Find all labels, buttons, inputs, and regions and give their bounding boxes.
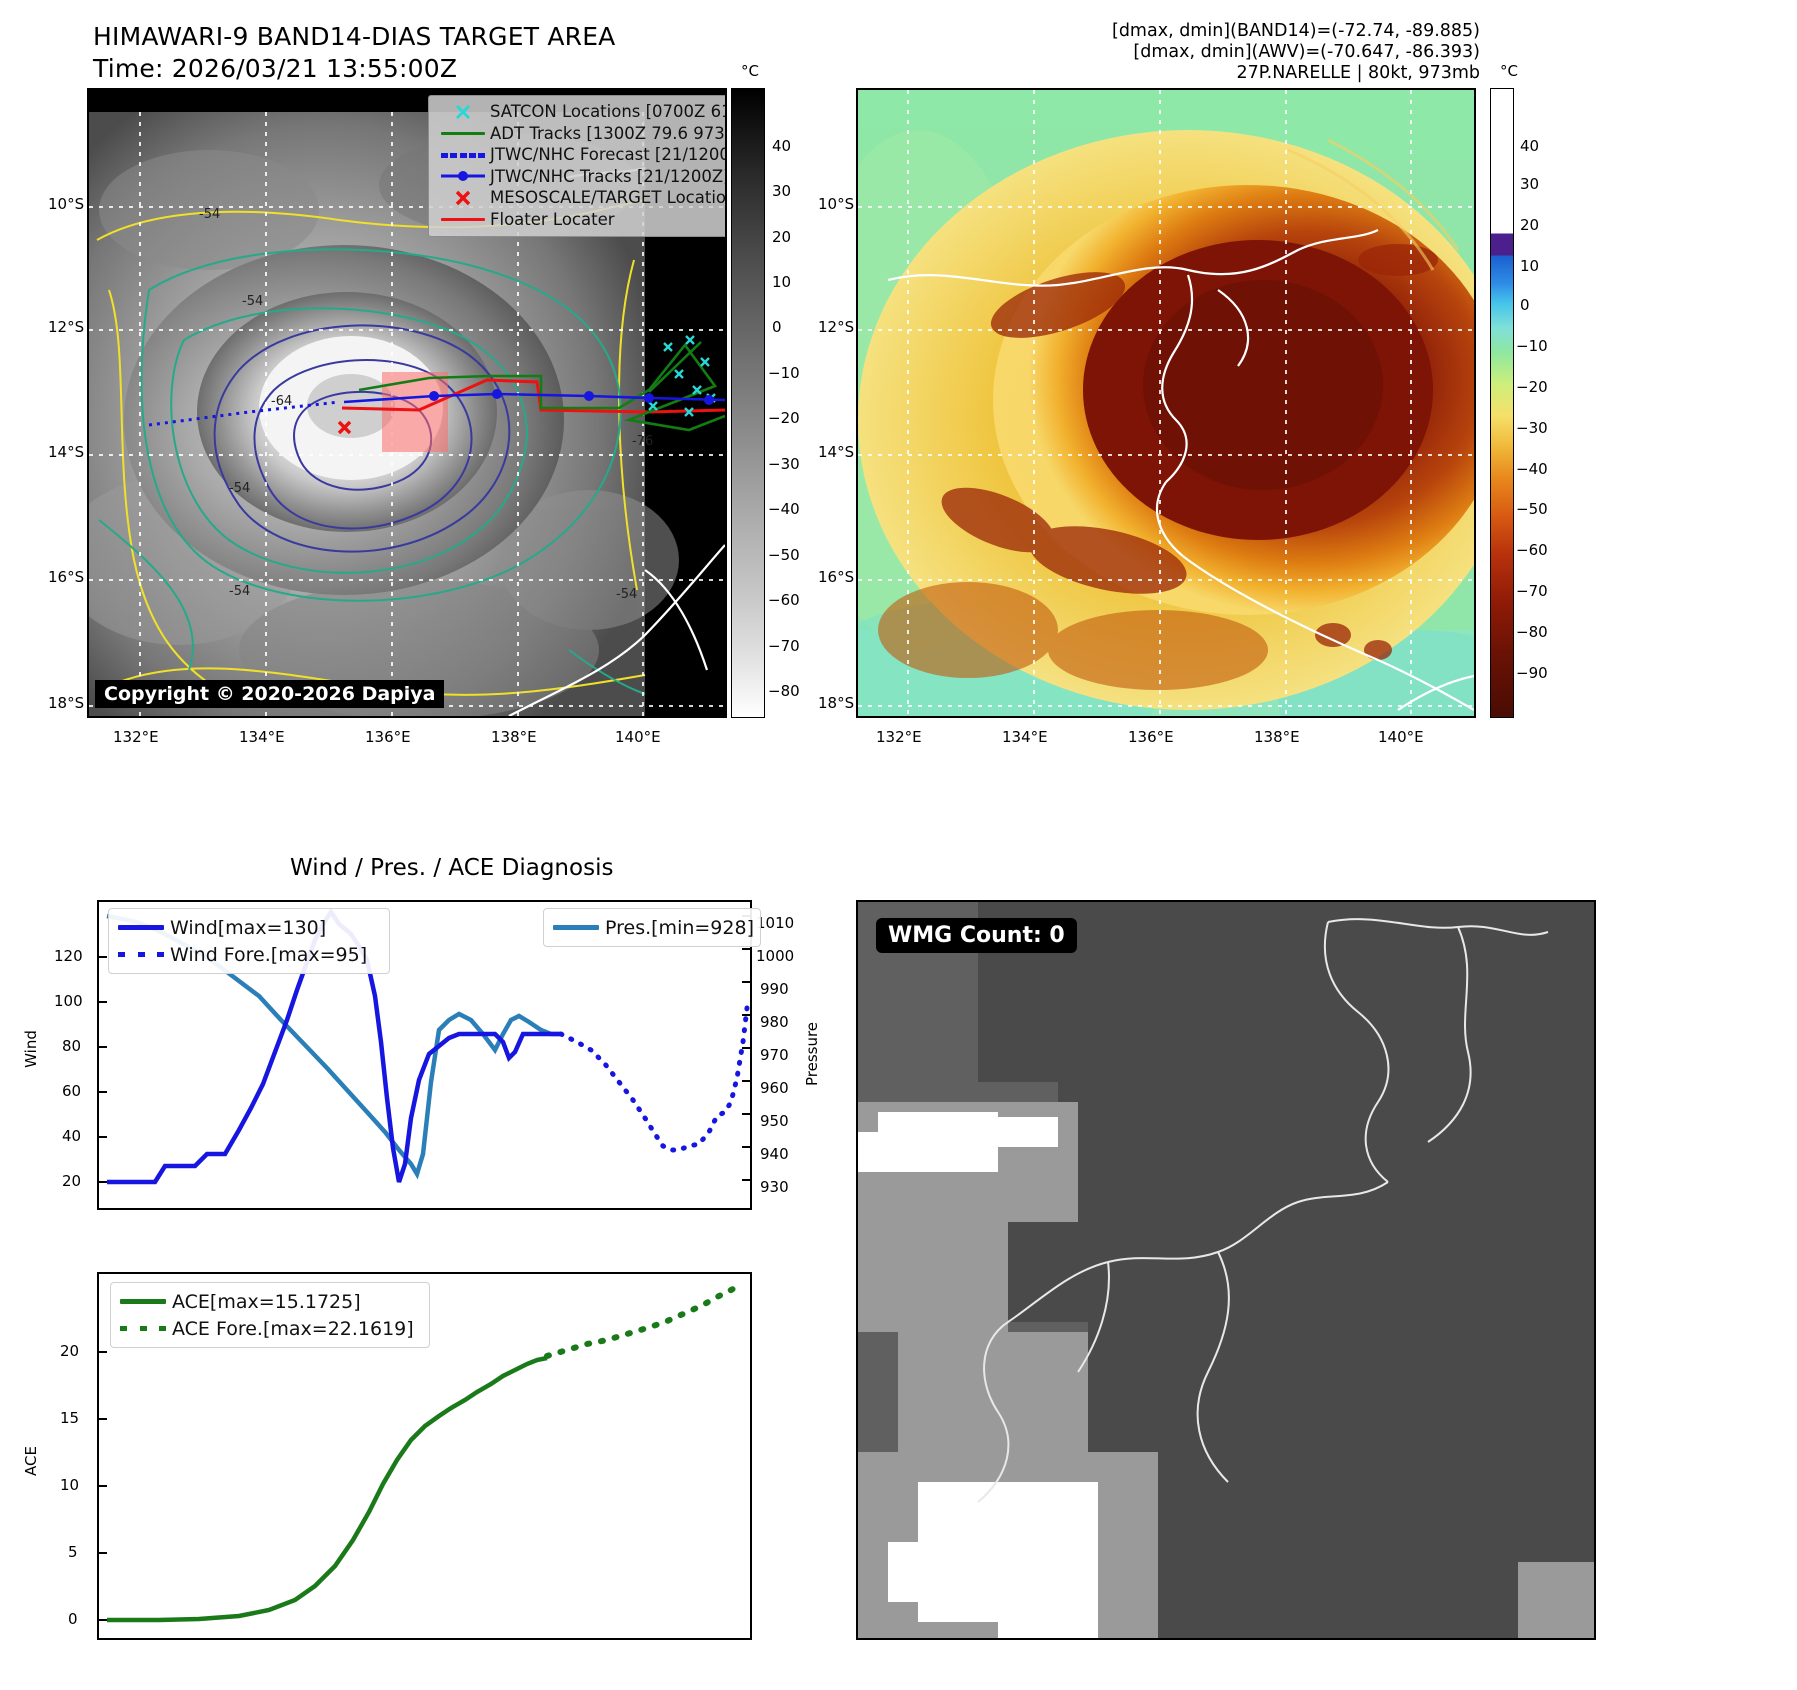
ir-cb-tick: 0 — [772, 318, 782, 336]
ir-cb-tick: −50 — [768, 546, 800, 564]
svg-text:-76: -76 — [632, 434, 653, 449]
pressure-ytick: 960 — [760, 1079, 789, 1097]
ir-lon-tick: 138°E — [491, 728, 537, 746]
legend-item: Pres.[min=928] — [553, 914, 751, 941]
ir-lat-tick: 16°S — [48, 568, 84, 586]
awv-cb-tick: 10 — [1520, 257, 1539, 275]
ir-cb-tick: −40 — [768, 500, 800, 518]
copyright-notice: Copyright © 2020-2026 Dapiya — [95, 680, 444, 708]
ir-cb-tick: −70 — [768, 637, 800, 655]
ir-lat-tick: 14°S — [48, 443, 84, 461]
legend-item: Wind Fore.[max=95] — [118, 941, 380, 968]
legend-item: Wind[max=130] — [118, 914, 380, 941]
page-title: HIMAWARI-9 BAND14-DIAS TARGET AREA — [93, 22, 616, 51]
ace-legend: ACE[max=15.1725] ACE Fore.[max=22.1619] — [110, 1282, 430, 1348]
ir-lon-tick: 134°E — [239, 728, 285, 746]
solid-line-icon — [120, 1299, 172, 1304]
legend-item: Floater Locater — [436, 209, 726, 231]
awv-cb-tick: 30 — [1520, 175, 1539, 193]
awv-lon-tick: 136°E — [1128, 728, 1174, 746]
wmg-count-badge: WMG Count: 0 — [876, 918, 1077, 953]
ir-legend: SATCON Locations [0700Z 61 982] ADT Trac… — [428, 95, 727, 237]
stat-band14-minmax: [dmax, dmin](BAND14)=(-72.74, -89.885) — [1112, 20, 1480, 43]
legend-label: Wind[max=130] — [170, 917, 326, 939]
line-with-marker-icon — [436, 169, 490, 183]
pressure-ytick: 1010 — [756, 914, 794, 932]
pressure-axis-label: Pressure — [803, 1022, 821, 1086]
x-marker-icon — [436, 102, 490, 122]
wind-axis-label: Wind — [22, 1030, 40, 1068]
awv-cb-tick: 20 — [1520, 216, 1539, 234]
dotted-line-icon — [120, 1326, 172, 1331]
ir-colorbar — [731, 88, 765, 718]
legend-label: ADT Tracks [1300Z 79.6 973.7] — [490, 124, 727, 143]
legend-label: JTWC/NHC Forecast [21/1200Z] — [490, 145, 727, 164]
awv-lon-tick: 140°E — [1378, 728, 1424, 746]
awv-lon-tick: 132°E — [876, 728, 922, 746]
awv-cb-tick: −40 — [1516, 460, 1548, 478]
awv-cb-tick: −30 — [1516, 419, 1548, 437]
svg-text:-54: -54 — [199, 207, 220, 222]
awv-cb-tick: −10 — [1516, 337, 1548, 355]
svg-text:-54: -54 — [616, 587, 637, 602]
wmg-imagery — [858, 902, 1594, 1638]
ir-cb-tick: −20 — [768, 409, 800, 427]
ir-lat-tick: 12°S — [48, 318, 84, 336]
pressure-ytick: 980 — [760, 1013, 789, 1031]
awv-cb-tick: −80 — [1516, 623, 1548, 641]
ace-ytick: 10 — [60, 1476, 79, 1494]
ir-cb-tick: 20 — [772, 228, 791, 246]
solid-line-icon — [436, 132, 490, 135]
legend-label: Pres.[min=928] — [605, 917, 754, 939]
svg-text:-54: -54 — [229, 584, 250, 599]
ir-lat-tick: 10°S — [48, 195, 84, 213]
ir-cb-tick: −10 — [768, 364, 800, 382]
awv-imagery — [858, 90, 1474, 716]
pressure-ytick: 950 — [760, 1112, 789, 1130]
ir-cb-tick: 30 — [772, 182, 791, 200]
pressure-ytick: 970 — [760, 1046, 789, 1064]
legend-label: SATCON Locations [0700Z 61 982] — [490, 102, 727, 121]
pressure-legend: Pres.[min=928] — [543, 908, 761, 947]
awv-cb-tick: −90 — [1516, 664, 1548, 682]
solid-line-icon — [553, 925, 605, 930]
legend-item: ACE Fore.[max=22.1619] — [120, 1315, 420, 1342]
awv-cb-tick: 40 — [1520, 137, 1539, 155]
legend-item: JTWC/NHC Forecast [21/1200Z] — [436, 144, 726, 166]
awv-lat-tick: 16°S — [818, 568, 854, 586]
awv-cb-tick: −60 — [1516, 541, 1548, 559]
legend-label: ACE Fore.[max=22.1619] — [172, 1318, 414, 1340]
awv-lat-tick: 10°S — [818, 195, 854, 213]
wind-ytick: 100 — [54, 992, 83, 1010]
legend-label: Wind Fore.[max=95] — [170, 944, 367, 966]
legend-label: MESOSCALE/TARGET Location — [490, 188, 727, 207]
legend-item: JTWC/NHC Tracks [21/1200Z] — [436, 166, 726, 188]
wmg-panel[interactable]: WMG Count: 0 — [856, 900, 1596, 1640]
ir-cb-tick: 40 — [772, 137, 791, 155]
awv-lat-tick: 14°S — [818, 443, 854, 461]
legend-label: Floater Locater — [490, 210, 615, 229]
pressure-ytick: 990 — [760, 980, 789, 998]
awv-cb-tick: −70 — [1516, 582, 1548, 600]
awv-cb-tick: −20 — [1516, 378, 1548, 396]
svg-text:-54: -54 — [242, 294, 263, 309]
awv-cb-tick: 0 — [1520, 296, 1530, 314]
awv-lon-tick: 134°E — [1002, 728, 1048, 746]
ir-lat-tick: 18°S — [48, 694, 84, 712]
page-time: Time: 2026/03/21 13:55:00Z — [93, 54, 457, 83]
awv-satellite-panel[interactable] — [856, 88, 1476, 718]
ir-cb-tick: −80 — [768, 682, 800, 700]
awv-colorbar — [1490, 88, 1514, 718]
ir-cb-tick: −60 — [768, 591, 800, 609]
x-marker-icon — [436, 188, 490, 208]
storm-summary: 27P.NARELLE | 80kt, 973mb — [1237, 62, 1480, 85]
awv-lon-tick: 138°E — [1254, 728, 1300, 746]
ir-satellite-panel[interactable]: -54 -54 -64 -76 -54 -54 -54 — [87, 88, 727, 718]
awv-cb-tick: −50 — [1516, 500, 1548, 518]
solid-line-icon — [118, 925, 170, 930]
pressure-ytick: 1000 — [756, 947, 794, 965]
dotted-line-icon — [436, 153, 490, 157]
ace-ytick: 5 — [68, 1543, 78, 1561]
ir-lon-tick: 136°E — [365, 728, 411, 746]
ir-colorbar-unit: °C — [741, 62, 759, 80]
svg-text:-64: -64 — [271, 394, 292, 409]
legend-item: ADT Tracks [1300Z 79.6 973.7] — [436, 123, 726, 145]
wind-ytick: 120 — [54, 947, 83, 965]
solid-line-icon — [436, 218, 490, 221]
ir-cb-tick: 10 — [772, 273, 791, 291]
pressure-ytick: 940 — [760, 1145, 789, 1163]
ace-ytick: 15 — [60, 1409, 79, 1427]
legend-item: SATCON Locations [0700Z 61 982] — [436, 101, 726, 123]
svg-text:-54: -54 — [229, 481, 250, 496]
ace-ytick: 20 — [60, 1342, 79, 1360]
ir-lon-tick: 132°E — [113, 728, 159, 746]
wind-ytick: 80 — [62, 1037, 81, 1055]
legend-item: MESOSCALE/TARGET Location — [436, 187, 726, 209]
ir-cb-tick: −30 — [768, 455, 800, 473]
ace-axis-label: ACE — [22, 1446, 40, 1476]
wind-ytick: 20 — [62, 1172, 81, 1190]
ir-lon-tick: 140°E — [615, 728, 661, 746]
dotted-line-icon — [118, 952, 170, 957]
stat-awv-minmax: [dmax, dmin](AWV)=(-70.647, -86.393) — [1133, 41, 1480, 64]
legend-label: ACE[max=15.1725] — [172, 1291, 361, 1313]
wind-legend: Wind[max=130] Wind Fore.[max=95] — [108, 908, 390, 974]
awv-lat-tick: 18°S — [818, 694, 854, 712]
diagnosis-title: Wind / Pres. / ACE Diagnosis — [290, 855, 613, 881]
awv-colorbar-unit: °C — [1500, 62, 1518, 80]
ace-ytick: 0 — [68, 1610, 78, 1628]
wind-ytick: 60 — [62, 1082, 81, 1100]
pressure-ytick: 930 — [760, 1178, 789, 1196]
wind-ytick: 40 — [62, 1127, 81, 1145]
legend-item: ACE[max=15.1725] — [120, 1288, 420, 1315]
legend-label: JTWC/NHC Tracks [21/1200Z] — [490, 167, 727, 186]
awv-lat-tick: 12°S — [818, 318, 854, 336]
